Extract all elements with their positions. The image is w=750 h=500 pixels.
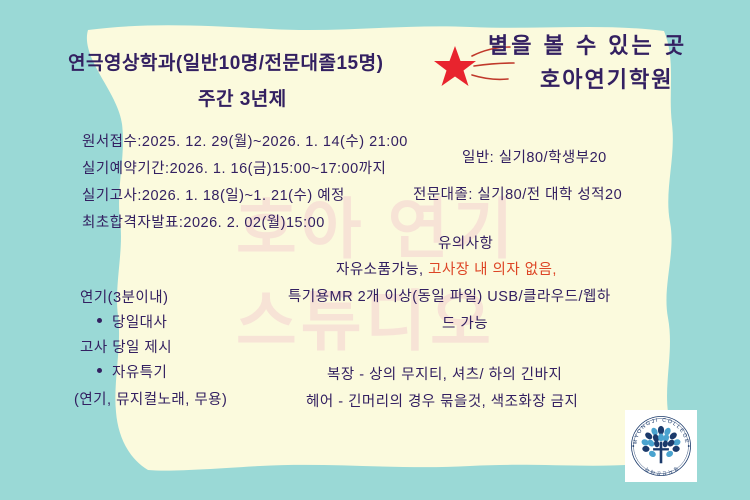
schedule-item: 원서접수:2025. 12. 29(월)~2026. 1. 14(수) 21:0… <box>82 130 408 151</box>
notice-line-2-highlight: 고사장 내 의자 없음, <box>428 262 557 278</box>
brand-tagline: 별을 볼 수 있는 곳 <box>488 28 687 60</box>
scoring-item: 전문대졸: 실기80/전 대학 성적20 <box>413 183 622 204</box>
poster-title-line-2: 주간 3년제 <box>198 84 287 111</box>
poster-title-line-1: 연극영상학과(일반10명/전문대졸15명) <box>68 48 383 75</box>
audition-subnote: (연기, 뮤지컬노래, 무용) <box>74 388 227 409</box>
audition-bullet-1: 자유특기 <box>112 361 167 382</box>
notice-heading: 유의사항 <box>438 232 493 253</box>
dress-code-line-0: 복장 - 상의 무지티, 셔츠/ 하의 긴바지 <box>327 363 562 384</box>
poster-canvas: 호아 연기 스튜디오 연극영상학과(일반10명/전문대졸15명) 주간 3년제 … <box>0 0 750 500</box>
dress-code-line-1: 헤어 - 긴머리의 경우 묶을것, 색조화장 금지 <box>306 390 578 411</box>
audition-title: 연기(3분이내) <box>80 286 168 307</box>
audition-note: 고사 당일 제시 <box>80 336 172 357</box>
schedule-item: 최초합격자발표:2026. 2. 02(월)15:00 <box>82 211 325 232</box>
bullet-dot-icon <box>97 368 102 373</box>
logo-svg: MYONGJI COLLEGE 명지전문대학 <box>625 410 697 482</box>
notice-line-2-plain: 자유소품가능, <box>336 262 428 278</box>
notice-line-2: 자유소품가능, 고사장 내 의자 없음, <box>336 258 557 279</box>
brand-name: 호아연기학원 <box>540 62 673 94</box>
scoring-item: 일반: 실기80/학생부20 <box>462 146 607 167</box>
tree-symbol-icon <box>641 426 682 463</box>
myongji-college-logo: MYONGJI COLLEGE 명지전문대학 <box>625 410 697 482</box>
notice-line-3: 특기용MR 2개 이상(동일 파일) USB/클라우드/웹하 <box>288 285 611 306</box>
schedule-item: 실기고사:2026. 1. 18(일)~1. 21(수) 예정 <box>82 184 345 205</box>
audition-bullet-0: 당일대사 <box>112 311 167 332</box>
notice-line-4: 드 가능 <box>442 312 488 333</box>
bullet-dot-icon <box>97 318 102 323</box>
schedule-item: 실기예약기간:2026. 1. 16(금)15:00~17:00까지 <box>82 157 386 178</box>
